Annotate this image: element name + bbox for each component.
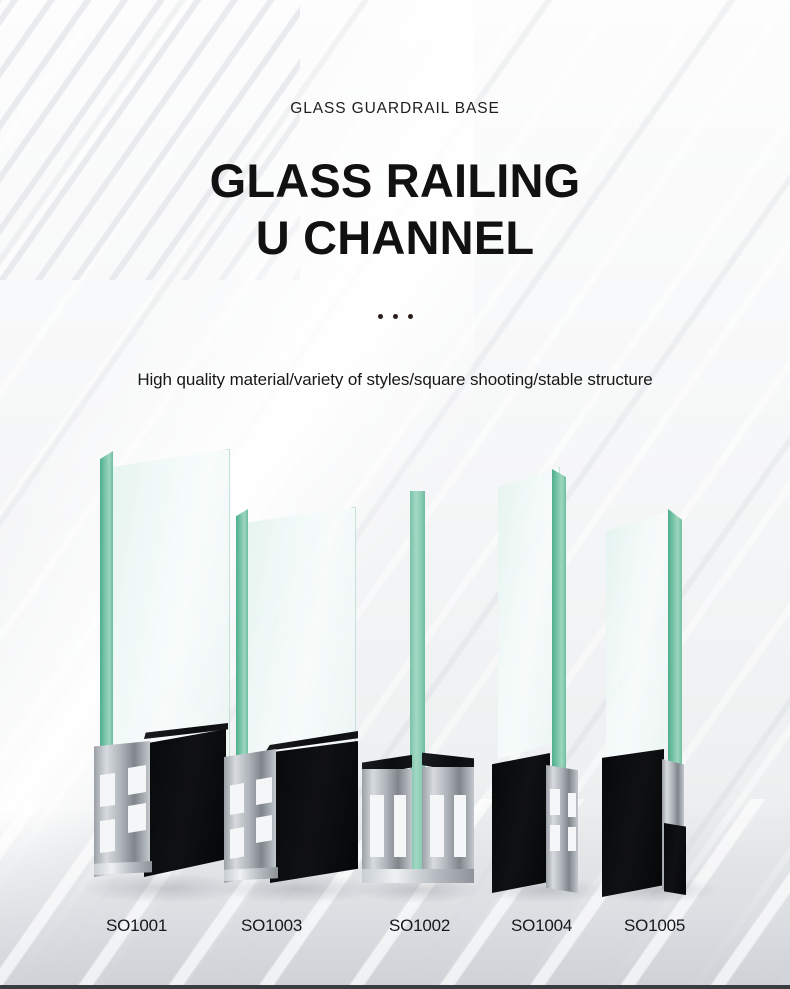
bottom-rule [0, 985, 790, 989]
tagline: High quality material/variety of styles/… [0, 370, 790, 390]
product-label-so1003: SO1003 [241, 916, 302, 936]
channel-slot [230, 783, 244, 815]
channel-slot [128, 803, 146, 833]
product-so1004 [490, 467, 600, 897]
product-label-so1002: SO1002 [389, 916, 450, 936]
product-label-so1004: SO1004 [511, 916, 572, 936]
channel-slot [430, 795, 444, 857]
product-so1003 [222, 477, 372, 897]
product-lineup [0, 455, 790, 925]
glass-panel-face [498, 467, 560, 759]
divider-dot [378, 314, 383, 319]
glass-panel-face [606, 511, 672, 759]
eyebrow-heading: GLASS GUARDRAIL BASE [0, 100, 790, 118]
channel-base-foot [362, 869, 474, 883]
channel-slot [256, 815, 272, 843]
product-so1002 [358, 477, 478, 897]
channel-slot [394, 795, 406, 857]
product-so1001 [88, 447, 238, 897]
channel-slot [128, 765, 146, 795]
channel-slot [100, 773, 115, 807]
channel-slot [100, 819, 115, 853]
divider-dot [408, 314, 413, 319]
channel-slot [370, 795, 384, 857]
black-cladding-panel [602, 749, 664, 897]
channel-slot [550, 789, 560, 815]
dot-divider [0, 314, 790, 319]
channel-slot [454, 795, 466, 857]
black-channel-lower [664, 823, 686, 895]
channel-slot [568, 827, 576, 851]
black-cladding-panel [144, 729, 226, 877]
black-cladding-panel [270, 741, 358, 883]
product-label-so1005: SO1005 [624, 916, 685, 936]
channel-slot [230, 827, 244, 859]
channel-slot [550, 825, 560, 851]
title-line-2: U CHANNEL [0, 209, 790, 266]
divider-dot [393, 314, 398, 319]
black-cladding-panel [492, 753, 550, 893]
title-line-1: GLASS RAILING [210, 154, 581, 207]
channel-slot [568, 793, 576, 817]
product-label-so1001: SO1001 [106, 916, 167, 936]
product-so1005 [602, 487, 712, 897]
channel-slot [256, 777, 272, 805]
product-label-row: SO1001 SO1003 SO1002 SO1004 SO1005 [0, 916, 790, 946]
page-title: GLASS RAILING U CHANNEL [0, 152, 790, 266]
